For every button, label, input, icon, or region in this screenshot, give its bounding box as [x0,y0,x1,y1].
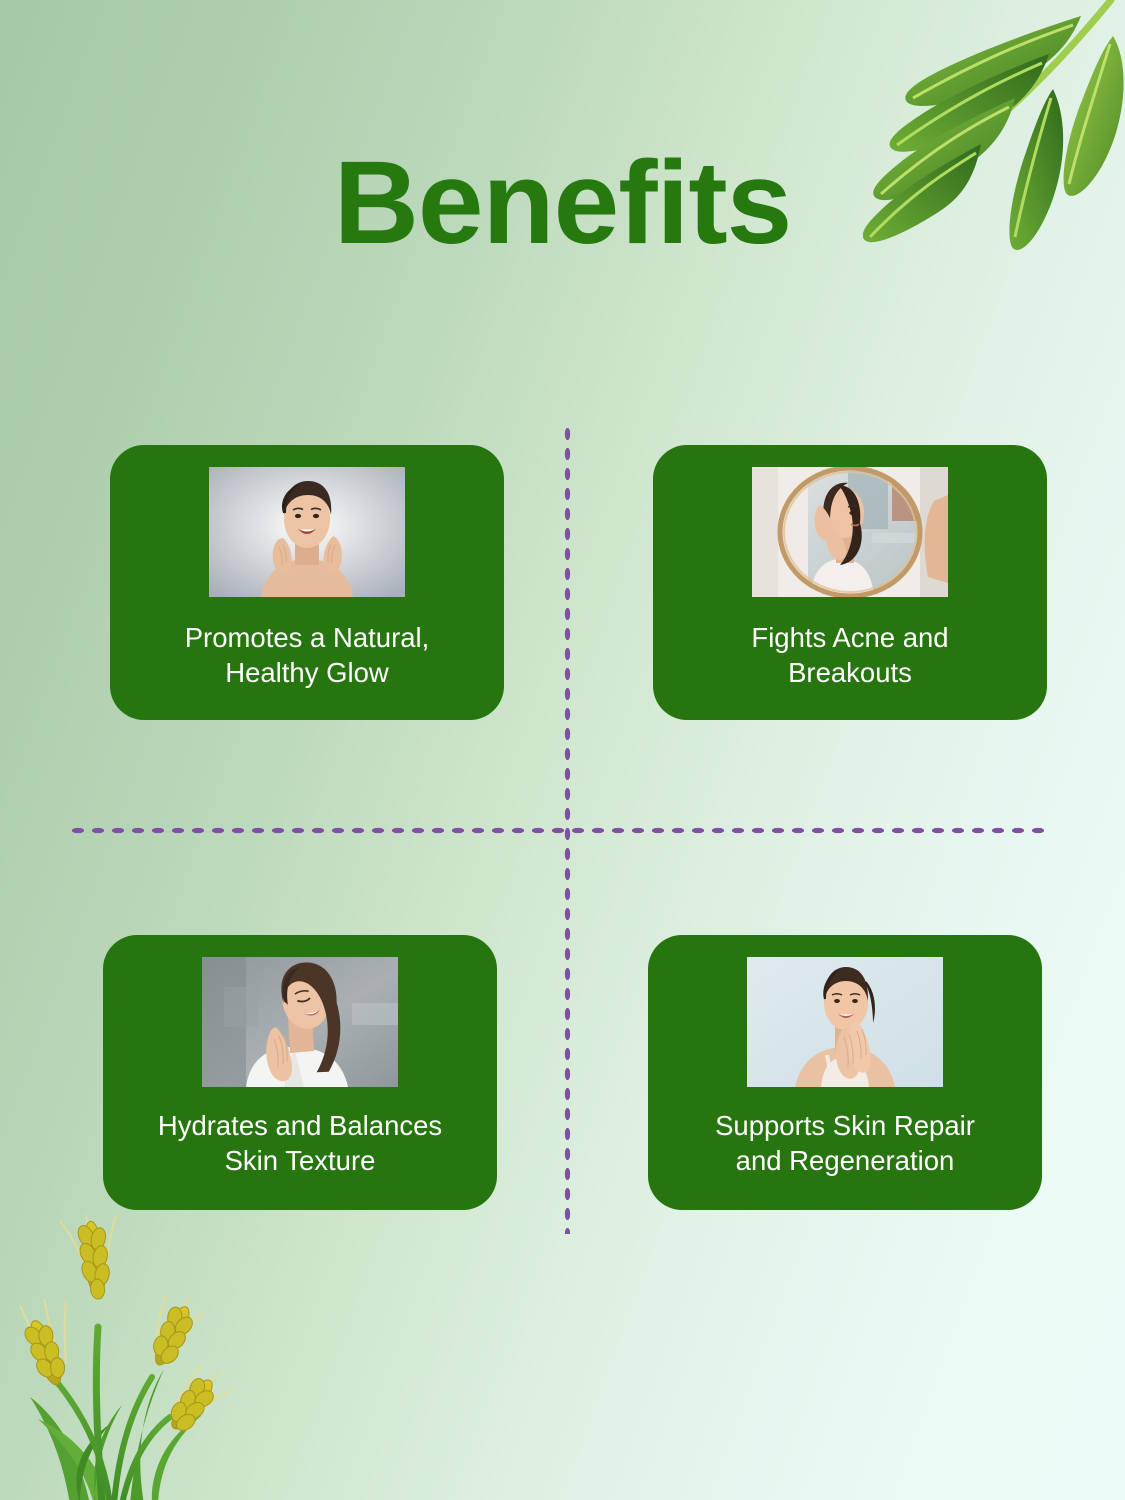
benefit-card-label: Fights Acne and Breakouts [737,620,962,690]
photo-woman-touching-neck [202,957,398,1087]
benefit-card-promotes-glow[interactable]: Promotes a Natural, Healthy Glow [110,445,504,720]
benefit-card-label: Promotes a Natural, Healthy Glow [171,620,444,690]
benefit-card-hydrates-balances[interactable]: Hydrates and Balances Skin Texture [103,935,497,1210]
benefit-card-label: Hydrates and Balances Skin Texture [144,1108,456,1178]
photo-woman-looking-in-round-mirror [752,467,948,597]
benefit-card-fights-acne[interactable]: Fights Acne and Breakouts [653,445,1047,720]
benefit-card-supports-repair[interactable]: Supports Skin Repair and Regeneration [648,935,1042,1210]
photo-woman-hands-on-cheek [747,957,943,1087]
photo-smiling-woman-touching-face [209,467,405,597]
benefit-card-label: Supports Skin Repair and Regeneration [701,1108,989,1178]
benefit-card-grid: Promotes a Natural, Healthy Glow [0,0,1125,1500]
benefits-infographic: Benefits [0,0,1125,1500]
